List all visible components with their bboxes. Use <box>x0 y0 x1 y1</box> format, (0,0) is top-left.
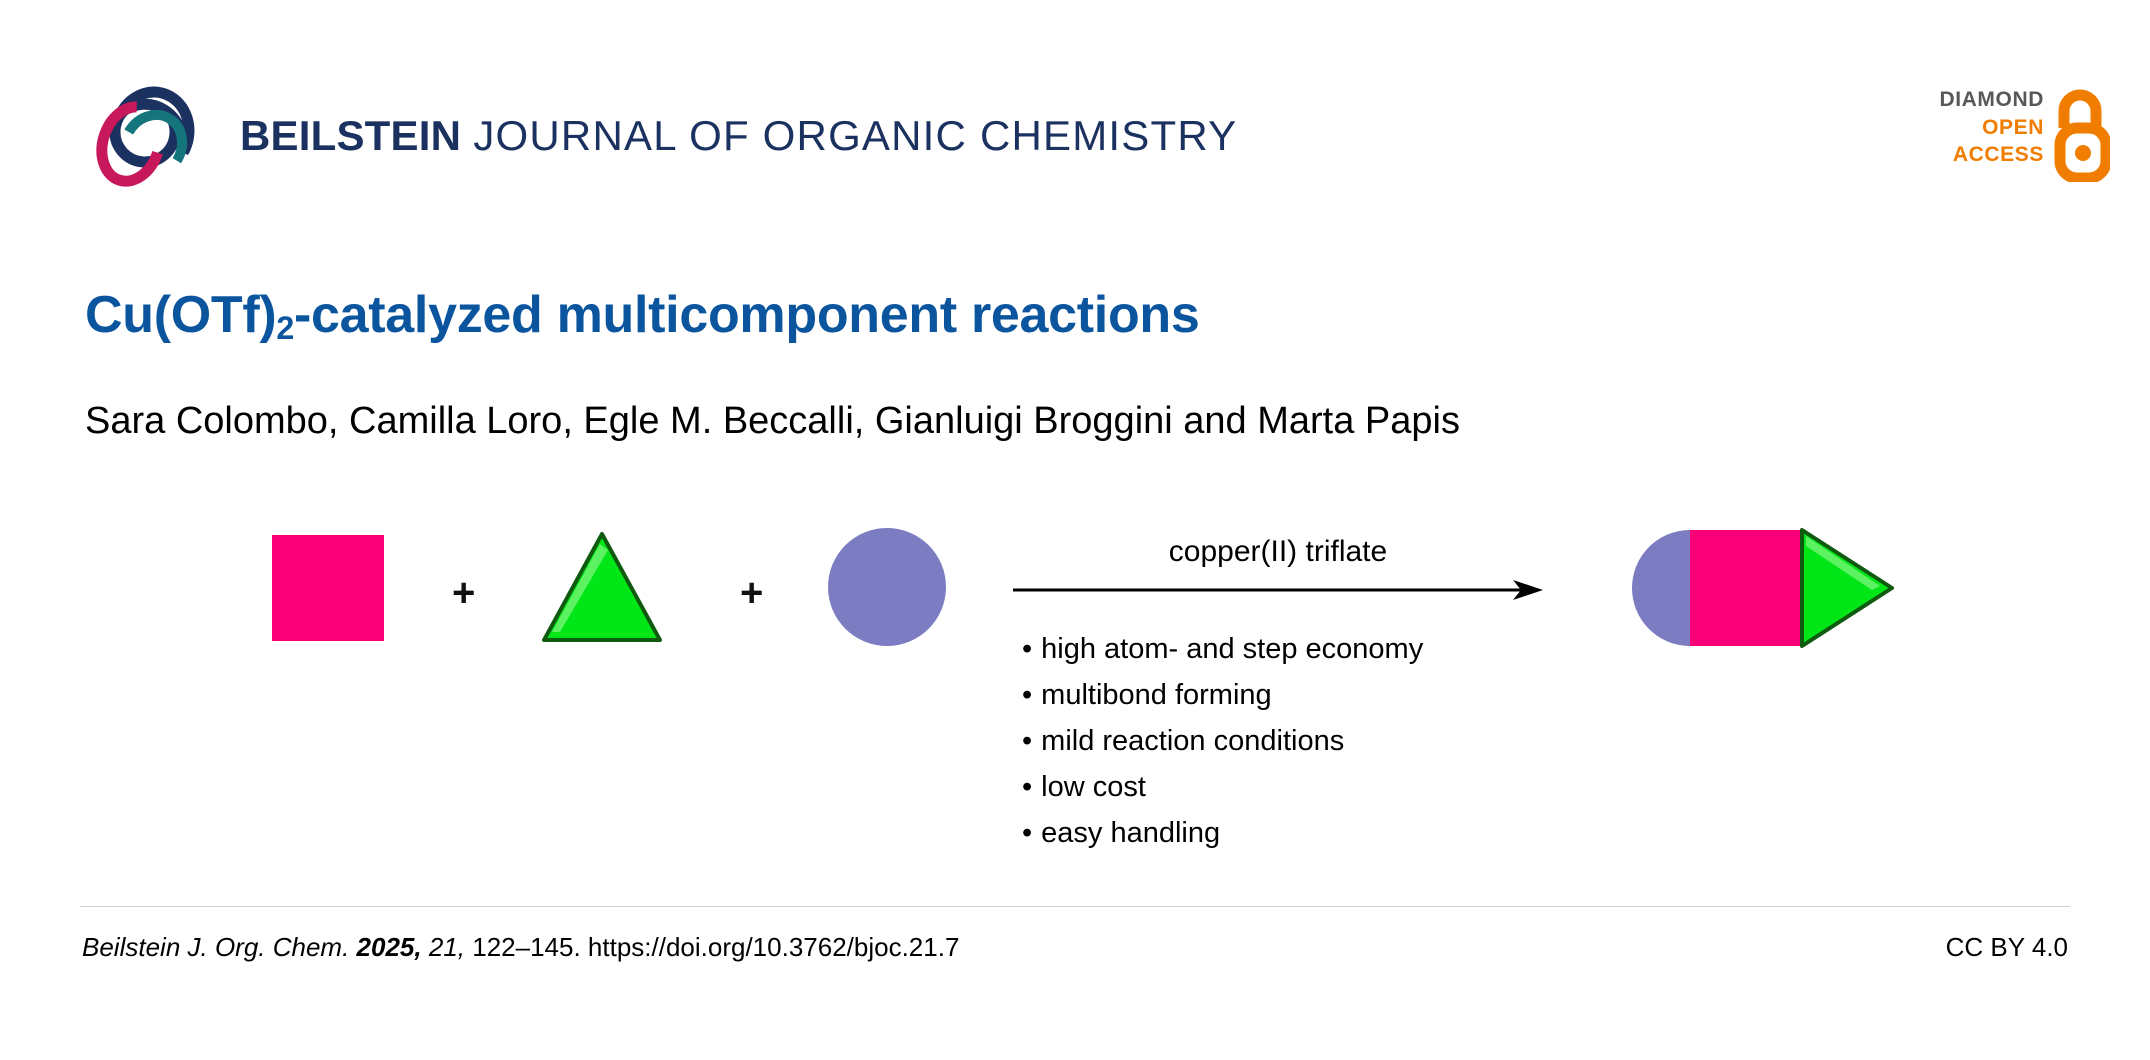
article-title: Cu(OTf)2-catalyzed multicomponent reacti… <box>85 285 1200 345</box>
list-item: •mild reaction conditions <box>1022 718 1423 764</box>
citation-year: 2025, <box>357 932 422 962</box>
list-item-label: low cost <box>1041 771 1146 803</box>
license-label: CC BY 4.0 <box>1946 932 2068 963</box>
article-authors: Sara Colombo, Camilla Loro, Egle M. Becc… <box>85 400 1460 443</box>
reactant-square-shape <box>272 535 384 641</box>
bullet-dot-icon: • <box>1022 633 1032 665</box>
article-title-subscript: 2 <box>276 310 294 346</box>
journal-wordmark: BEILSTEIN JOURNAL OF ORGANIC CHEMISTRY <box>240 112 1237 160</box>
reactant-triangle-shape <box>538 528 666 646</box>
open-access-label-group: DIAMOND OPEN ACCESS <box>1939 86 2044 169</box>
list-item-label: easy handling <box>1041 817 1220 849</box>
citation-pages-doi[interactable]: 122–145. https://doi.org/10.3762/bjoc.21… <box>472 932 959 962</box>
page-header: BEILSTEIN JOURNAL OF ORGANIC CHEMISTRY D… <box>0 0 2150 230</box>
open-access-line-open: OPEN <box>1939 114 2044 142</box>
bullet-dot-icon: • <box>1022 817 1032 849</box>
list-item: •high atom- and step economy <box>1022 626 1423 672</box>
reaction-feature-list: •high atom- and step economy •multibond … <box>1022 626 1423 856</box>
list-item-label: high atom- and step economy <box>1041 633 1423 665</box>
diamond-open-access-badge: DIAMOND OPEN ACCESS <box>1890 86 2110 196</box>
article-title-part1: Cu(OTf) <box>85 286 276 344</box>
citation-volume: 21, <box>429 932 465 962</box>
list-item-label: multibond forming <box>1041 679 1272 711</box>
footer-citation: Beilstein J. Org. Chem. 2025, 21, 122–14… <box>82 932 959 963</box>
journal-wordmark-light: JOURNAL OF ORGANIC CHEMISTRY <box>473 112 1237 159</box>
list-item-label: mild reaction conditions <box>1041 725 1344 757</box>
footer-divider <box>80 906 2070 907</box>
list-item: •easy handling <box>1022 810 1423 856</box>
product-combined-shape <box>1630 528 1900 648</box>
open-padlock-icon <box>2048 88 2110 182</box>
reaction-arrow-label: copper(II) triflate <box>1013 535 1543 569</box>
open-access-line-access: ACCESS <box>1939 141 2044 169</box>
list-item: •low cost <box>1022 764 1423 810</box>
plus-operator-1: + <box>452 573 475 613</box>
bullet-dot-icon: • <box>1022 679 1032 711</box>
open-access-line-diamond: DIAMOND <box>1939 86 2044 114</box>
bullet-dot-icon: • <box>1022 725 1032 757</box>
plus-operator-2: + <box>740 573 763 613</box>
right-arrow-icon <box>1013 575 1543 605</box>
beilstein-swirl-logo-icon <box>85 82 197 194</box>
reactant-circle-shape <box>828 528 946 646</box>
journal-wordmark-bold: BEILSTEIN <box>240 112 461 159</box>
bullet-dot-icon: • <box>1022 771 1032 803</box>
list-item: •multibond forming <box>1022 672 1423 718</box>
citation-journal: Beilstein J. Org. Chem. <box>82 932 349 962</box>
article-title-part2: -catalyzed multicomponent reactions <box>294 286 1199 344</box>
